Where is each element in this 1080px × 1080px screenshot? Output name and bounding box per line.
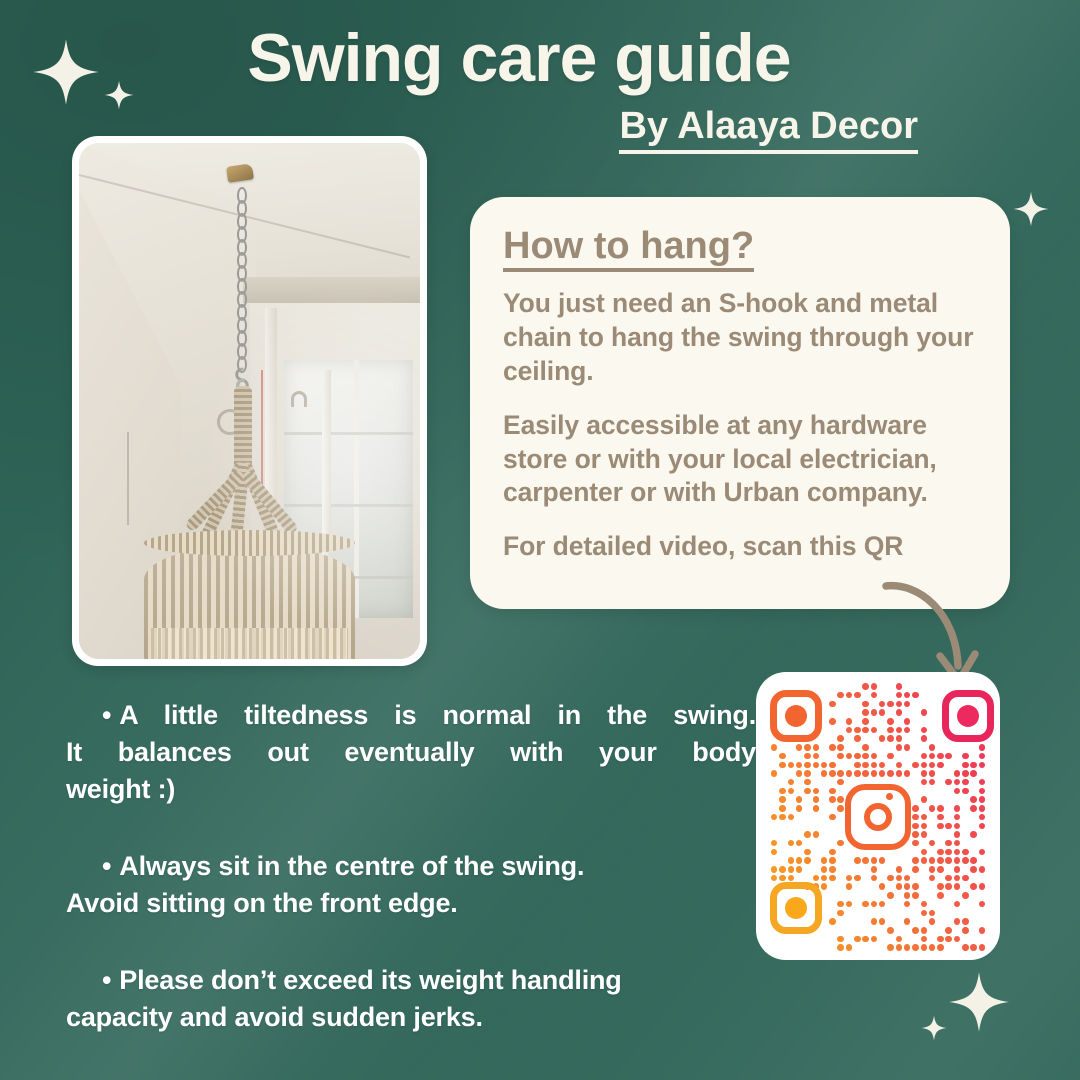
page-subtitle: By Alaaya Decor	[619, 106, 918, 154]
bullet-text: weight :)	[66, 771, 756, 808]
bullet-first-line: •A little tiltedness is normal in the sw…	[66, 697, 756, 734]
bullet-text: A little tiltedness is normal in the swi…	[119, 700, 756, 730]
bullet-text: Always sit in the centre of the swing.	[119, 851, 584, 881]
bullet-first-line: •Always sit in the centre of the swing.	[66, 848, 756, 885]
bullet-first-line: •Please don’t exceed its weight handling	[66, 962, 756, 999]
card-heading: How to hang?	[503, 227, 754, 272]
card-paragraph-3: For detailed video, scan this QR	[503, 530, 980, 564]
sparkle-icon	[921, 1015, 947, 1041]
instagram-qr-code[interactable]	[756, 672, 1000, 960]
poster-canvas: Swing care guide By Alaaya Decor	[0, 0, 1080, 1080]
bullet-text: It balances out eventually with your bod…	[66, 734, 756, 771]
card-paragraph-1: You just need an S-hook and metal chain …	[503, 287, 980, 389]
list-item: •Please don’t exceed its weight handling…	[66, 962, 756, 1036]
bullet-marker: •	[84, 848, 111, 885]
bullet-text: Please don’t exceed its weight handling	[119, 965, 621, 995]
list-item: •A little tiltedness is normal in the sw…	[66, 697, 756, 808]
bullet-text: Avoid sitting on the front edge.	[66, 885, 756, 922]
how-to-hang-card: How to hang? You just need an S-hook and…	[470, 197, 1010, 609]
bullet-marker: •	[84, 962, 111, 999]
card-paragraph-2: Easily accessible at any hardware store …	[503, 409, 980, 511]
care-tips-list: •A little tiltedness is normal in the sw…	[66, 697, 756, 1036]
swing-photo	[72, 136, 427, 666]
qr-finder-top-left	[770, 690, 822, 742]
qr-finder-top-right	[942, 690, 994, 742]
list-item: •Always sit in the centre of the swing. …	[66, 848, 756, 922]
bullet-text: capacity and avoid sudden jerks.	[66, 999, 756, 1036]
bullet-marker: •	[84, 697, 111, 734]
sparkle-icon	[1013, 191, 1049, 227]
page-title: Swing care guide	[0, 24, 1038, 92]
sparkle-icon	[948, 971, 1010, 1033]
qr-finder-bottom-left	[770, 882, 822, 934]
instagram-icon	[845, 784, 911, 850]
